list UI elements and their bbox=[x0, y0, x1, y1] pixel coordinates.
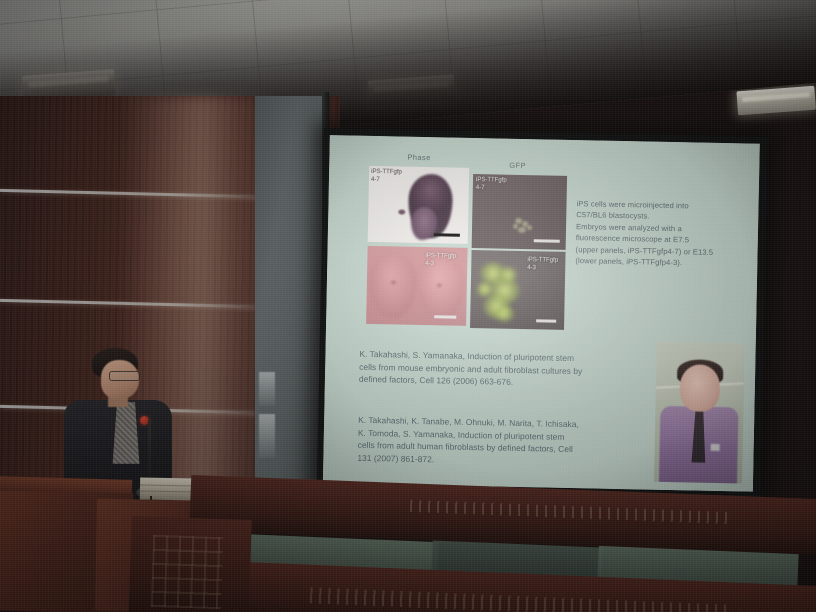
portrait-lapel-pin bbox=[711, 444, 720, 451]
embryo-lobe-left bbox=[368, 252, 417, 318]
slide-description: iPS cells were microinjected into C57/BL… bbox=[575, 198, 756, 270]
desk-left-detail bbox=[151, 535, 223, 609]
speaker-glasses bbox=[109, 371, 140, 381]
scale-bar-gfp-e75 bbox=[534, 239, 560, 242]
projection-screen: Phase GFP iPS-TTFgfp 4-7 bbox=[317, 128, 768, 499]
panel-highlight-1 bbox=[259, 372, 275, 406]
ceiling-light-3 bbox=[736, 86, 816, 116]
panel-highlight-2 bbox=[259, 414, 275, 458]
lecture-hall-photo: Phase GFP iPS-TTFgfp 4-7 bbox=[0, 0, 816, 612]
scale-bar-phase-e135 bbox=[434, 315, 456, 318]
gfp-signal-dot bbox=[518, 227, 526, 233]
scale-bar-phase-e75 bbox=[434, 233, 460, 236]
gfp-cluster bbox=[495, 305, 515, 321]
gfp-signal-dot bbox=[527, 225, 532, 230]
panel-label-phase-e135: iPS-TTFgfp 4-3 bbox=[425, 253, 456, 269]
portrait-face bbox=[679, 365, 720, 412]
panel-label-gfp-e135: iPS-TTFgfp 4-3 bbox=[527, 257, 558, 273]
column-header-phase: Phase bbox=[407, 153, 430, 162]
column-header-gfp: GFP bbox=[509, 161, 526, 170]
gfp-cluster bbox=[499, 266, 517, 282]
embryo-eye-right bbox=[437, 283, 442, 287]
embryo-phase-spot bbox=[398, 209, 405, 214]
scale-bar-gfp-e135 bbox=[536, 319, 556, 322]
gfp-cluster bbox=[476, 281, 492, 297]
screen-surface: Phase GFP iPS-TTFgfp 4-7 bbox=[323, 135, 760, 492]
citation-1: K. Takahashi, S. Yamanaka, Induction of … bbox=[359, 348, 650, 392]
panel-label-phase-e75: iPS-TTFgfp 4-7 bbox=[371, 169, 402, 185]
audience-desks bbox=[0, 462, 816, 612]
panel-label-gfp-e75: iPS-TTFgfp 4-7 bbox=[476, 177, 507, 193]
presentation-slide: Phase GFP iPS-TTFgfp 4-7 bbox=[323, 135, 760, 492]
